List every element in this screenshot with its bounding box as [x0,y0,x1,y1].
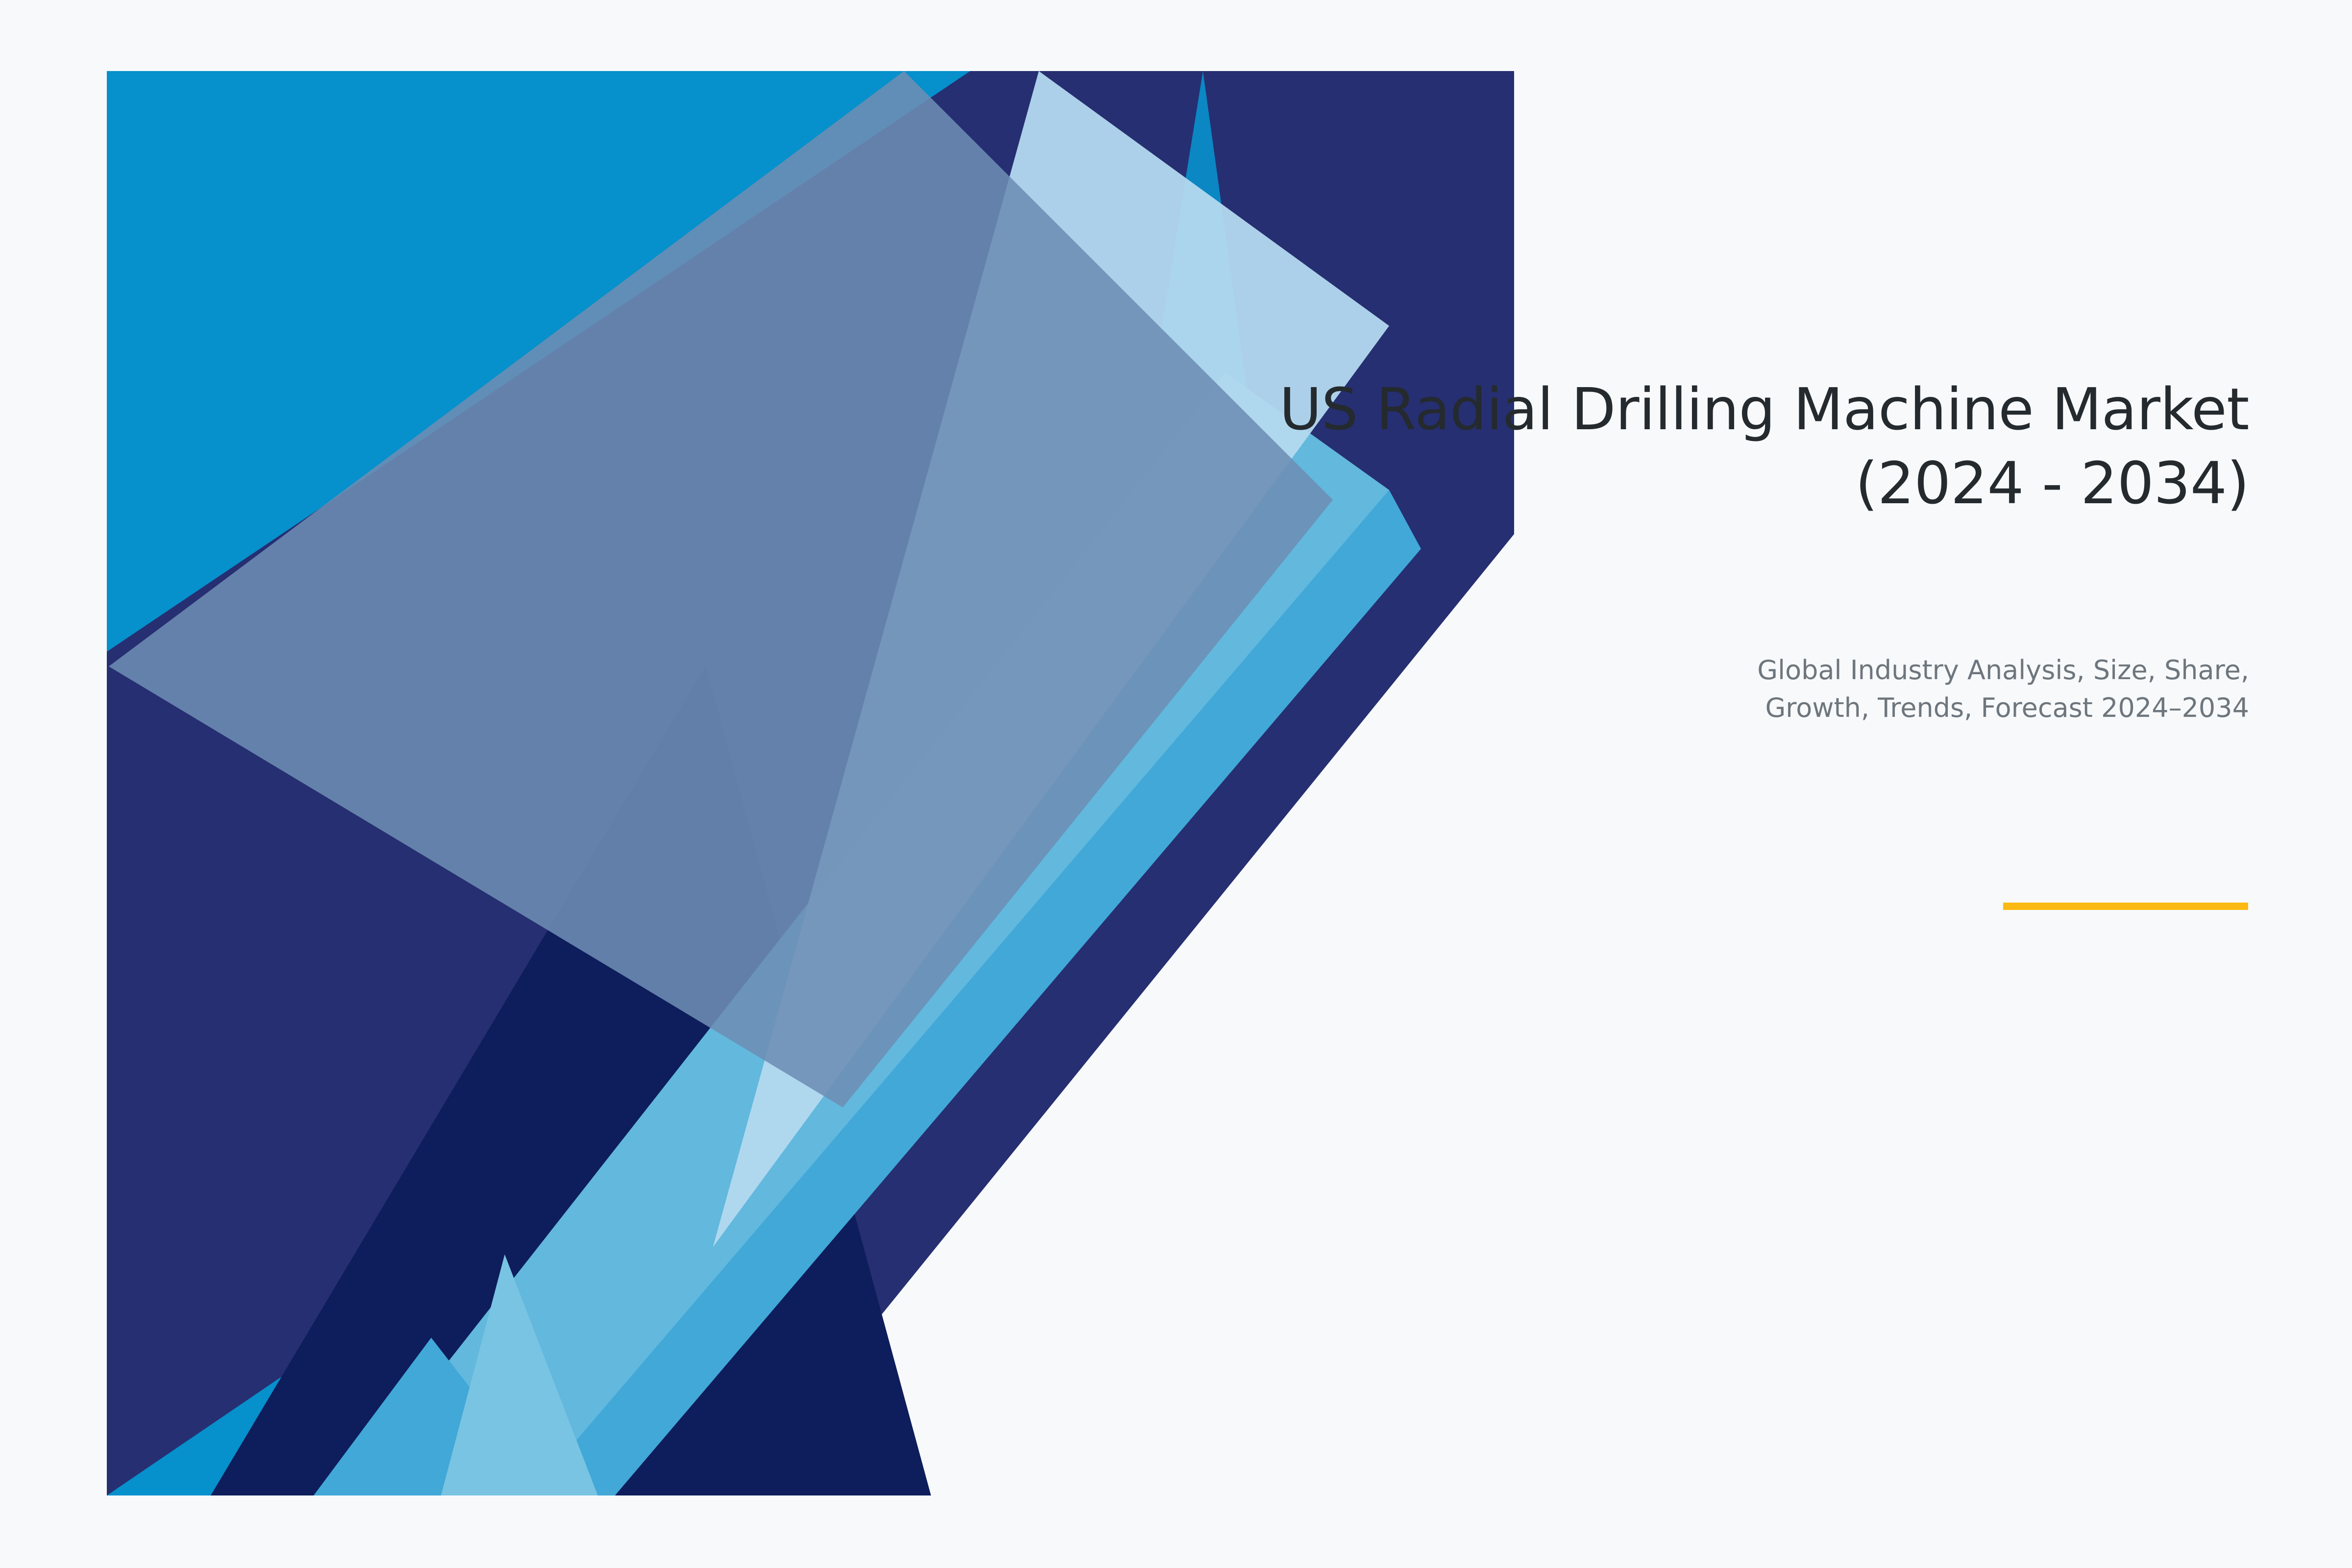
page-title: US Radial Drilling Machine Market (2024 … [931,372,2249,520]
page-subtitle: Global Industry Analysis, Size, Share, G… [931,652,2249,727]
report-cover-page: US Radial Drilling Machine Market (2024 … [0,0,2352,1568]
abstract-geometric-cover-graphic [0,0,2352,1568]
title-underline-accent [2003,903,2248,910]
cover-text-block: US Radial Drilling Machine Market (2024 … [931,372,2249,520]
